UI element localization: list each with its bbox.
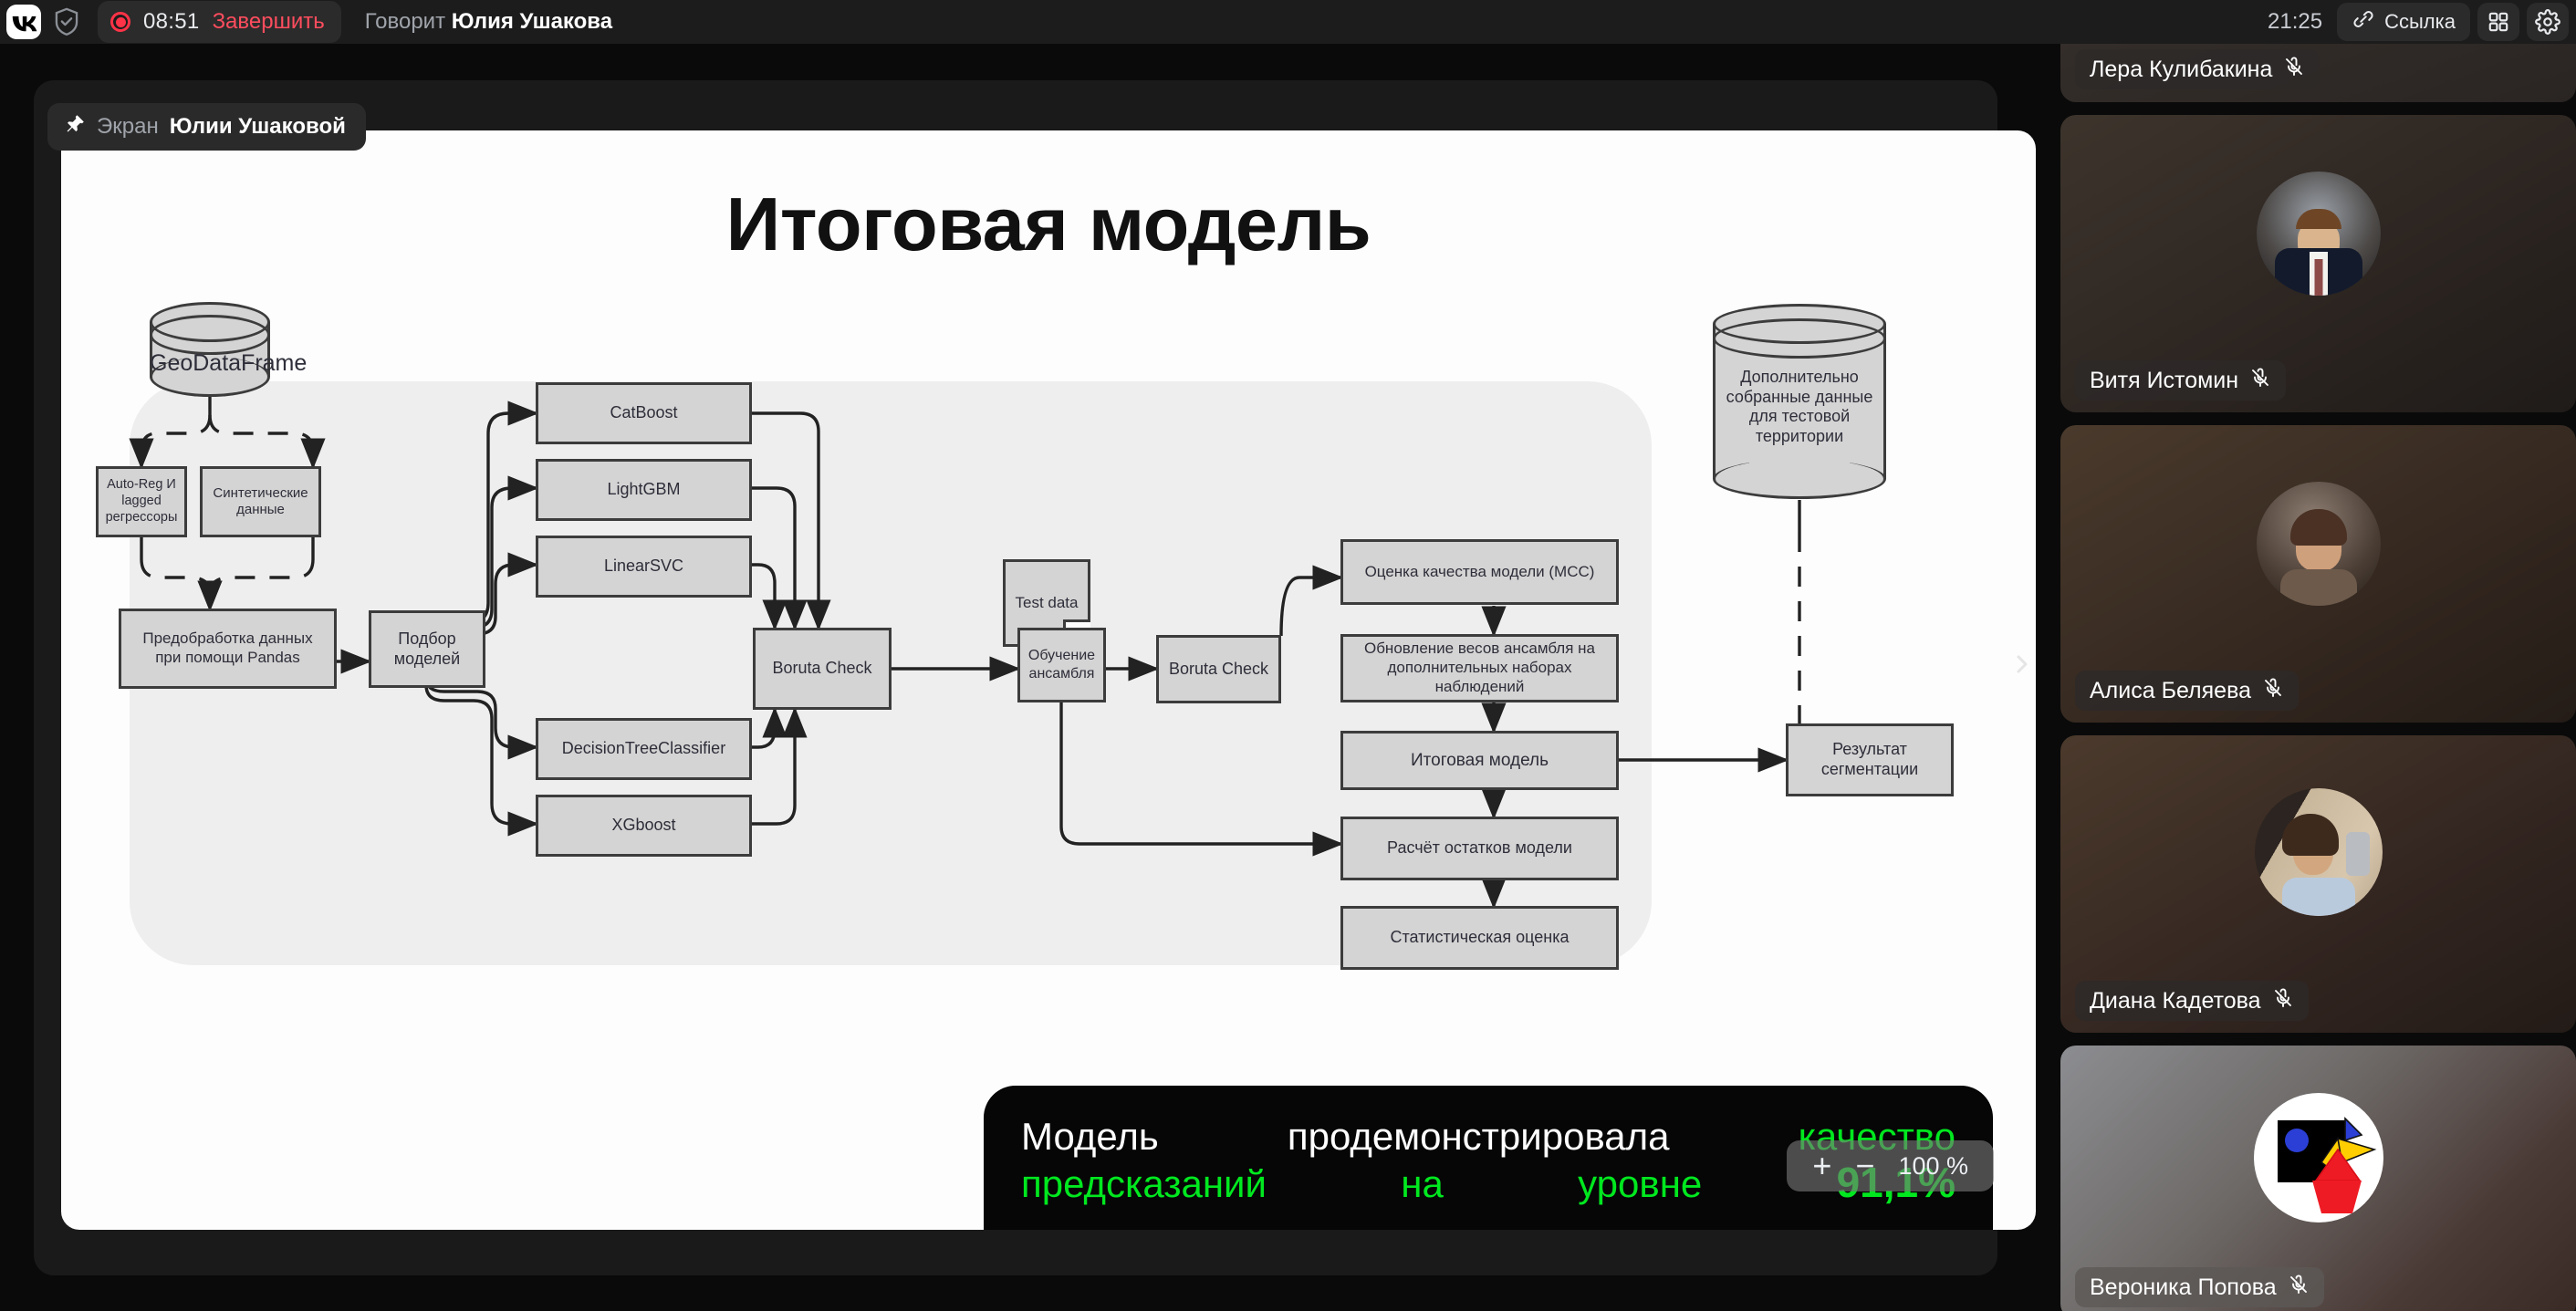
shared-screen-panel[interactable]: Итоговая модель bbox=[34, 80, 1997, 1275]
node-ensemble-training: Обучение ансамбля bbox=[1017, 628, 1106, 702]
zoom-out-button[interactable]: − bbox=[1855, 1150, 1874, 1182]
node-auto-reg-lagged: Auto-Reg И lagged регрессоры bbox=[96, 466, 187, 537]
recording-time: 08:51 bbox=[143, 9, 200, 35]
node-label: Подбор моделей bbox=[377, 629, 477, 670]
avatar bbox=[2254, 1093, 2383, 1223]
stop-recording-button[interactable]: Завершить bbox=[213, 9, 325, 35]
speaking-prefix: Говорит bbox=[365, 9, 445, 34]
recording-pill: 08:51 Завершить bbox=[98, 1, 341, 43]
mic-off-icon bbox=[2283, 56, 2305, 84]
node-residuals: Расчёт остатков модели bbox=[1340, 817, 1619, 880]
participant-name-chip: Витя Истомин bbox=[2075, 360, 2286, 401]
top-bar: 08:51 Завершить Говорит Юлия Ушакова 21:… bbox=[0, 0, 2576, 44]
pipeline-diagram: GeoDataFrame Auto-Reg И lagged регрессор… bbox=[61, 130, 2036, 1230]
node-label: GeoDataFrame bbox=[150, 349, 270, 377]
node-model-selection: Подбор моделей bbox=[369, 610, 485, 688]
pin-icon bbox=[64, 113, 86, 141]
link-icon bbox=[2352, 7, 2375, 36]
participant-tile[interactable]: Диана Кадетова bbox=[2060, 735, 2576, 1033]
node-label: Auto-Reg И lagged регрессоры bbox=[104, 477, 179, 525]
mic-off-icon bbox=[2249, 367, 2271, 395]
mic-off-icon bbox=[2288, 1274, 2310, 1302]
participant-name: Витя Истомин bbox=[2090, 368, 2238, 394]
chevron-right-icon[interactable] bbox=[2004, 637, 2040, 692]
callout-l1a: Модель bbox=[1021, 1115, 1159, 1158]
node-boruta-check-1: Boruta Check bbox=[753, 628, 892, 710]
node-linearsvc: LinearSVC bbox=[536, 536, 752, 598]
node-label: Test data bbox=[1016, 594, 1079, 612]
node-xgboost: XGboost bbox=[536, 795, 752, 857]
participant-name-chip: Лера Кулибакина bbox=[2075, 49, 2320, 89]
node-label: Итоговая модель bbox=[1411, 750, 1549, 771]
presentation-slide: Итоговая модель bbox=[61, 130, 2036, 1230]
node-label: DecisionTreeClassifier bbox=[562, 739, 725, 759]
record-dot-icon bbox=[110, 12, 130, 32]
shield-check-icon[interactable] bbox=[47, 2, 87, 42]
copy-link-button[interactable]: Ссылка bbox=[2337, 3, 2470, 41]
vk-logo-icon[interactable] bbox=[6, 5, 41, 39]
node-label: LinearSVC bbox=[604, 557, 683, 577]
mic-off-icon bbox=[2262, 677, 2284, 705]
node-quality-mcc: Оценка качества модели (MCC) bbox=[1340, 539, 1619, 605]
participant-tile[interactable]: Алиса Беляева bbox=[2060, 425, 2576, 723]
participants-rail[interactable]: Лера Кулибакина Витя Истомин bbox=[2048, 44, 2576, 1311]
node-boruta-check-2: Boruta Check bbox=[1156, 635, 1281, 703]
participant-name-chip: Алиса Беляева bbox=[2075, 671, 2299, 711]
participant-name: Алиса Беляева bbox=[2090, 678, 2251, 704]
node-statistical-evaluation: Статистическая оценка bbox=[1340, 906, 1619, 970]
avatar bbox=[2255, 788, 2383, 916]
grid-apps-icon[interactable] bbox=[2477, 3, 2519, 41]
participant-name-chip: Диана Кадетова bbox=[2075, 981, 2309, 1021]
active-speaker-label: Говорит Юлия Ушакова bbox=[365, 9, 612, 35]
node-geodataframe: GeoDataFrame bbox=[150, 302, 270, 397]
abstract-avatar-icon bbox=[2254, 1093, 2383, 1223]
node-label: Статистическая оценка bbox=[1390, 928, 1569, 948]
gear-icon[interactable] bbox=[2527, 3, 2569, 41]
node-label: Оценка качества модели (MCC) bbox=[1365, 563, 1595, 582]
participant-name: Диана Кадетова bbox=[2090, 988, 2261, 1014]
node-lightgbm: LightGBM bbox=[536, 459, 752, 521]
node-label: Обучение ансамбля bbox=[1025, 647, 1099, 682]
node-catboost: CatBoost bbox=[536, 382, 752, 444]
node-label: Результат сегментации bbox=[1794, 740, 1945, 780]
participant-name-chip: Вероника Попова bbox=[2075, 1267, 2324, 1307]
node-label: Дополнительно собранные данные для тесто… bbox=[1713, 368, 1886, 446]
video-call-window: 08:51 Завершить Говорит Юлия Ушакова 21:… bbox=[0, 0, 2576, 1311]
screen-share-pin-chip[interactable]: Экран Юлии Ушаковой bbox=[47, 103, 366, 151]
node-synthetic-data: Синтетические данные bbox=[200, 466, 321, 537]
avatar bbox=[2257, 482, 2381, 606]
node-label: Синтетические данные bbox=[208, 485, 313, 519]
pin-prefix: Экран bbox=[97, 114, 159, 140]
pin-owner-name: Юлии Ушаковой bbox=[170, 114, 346, 140]
zoom-in-button[interactable]: + bbox=[1812, 1150, 1831, 1182]
speaking-name: Юлия Ушакова bbox=[452, 9, 612, 34]
node-label: Boruta Check bbox=[772, 659, 871, 679]
participant-tile[interactable]: Вероника Попова bbox=[2060, 1046, 2576, 1311]
node-decisiontreeclassifier: DecisionTreeClassifier bbox=[536, 718, 752, 780]
node-label: Предобработка данных при помощи Pandas bbox=[129, 629, 327, 667]
node-preprocess-pandas: Предобработка данных при помощи Pandas bbox=[119, 609, 337, 689]
node-final-model: Итоговая модель bbox=[1340, 731, 1619, 790]
callout-l1b: продемонстрировала bbox=[1288, 1115, 1670, 1158]
participant-tile[interactable]: Витя Истомин bbox=[2060, 115, 2576, 412]
node-label: Обновление весов ансамбля на дополнитель… bbox=[1351, 640, 1609, 696]
participant-name: Вероника Попова bbox=[2090, 1275, 2277, 1301]
zoom-level: 100 % bbox=[1898, 1152, 1968, 1181]
node-label: CatBoost bbox=[610, 403, 677, 423]
top-bar-right-group: 21:25 Ссылка bbox=[2268, 0, 2576, 44]
node-label: Расчёт остатков модели bbox=[1387, 838, 1572, 858]
node-label: LightGBM bbox=[607, 480, 680, 500]
node-weights-update: Обновление весов ансамбля на дополнитель… bbox=[1340, 634, 1619, 702]
clock: 21:25 bbox=[2268, 9, 2322, 35]
node-label: XGboost bbox=[611, 816, 675, 836]
node-segmentation-result: Результат сегментации bbox=[1786, 723, 1954, 796]
node-label: Boruta Check bbox=[1169, 660, 1268, 680]
avatar bbox=[2257, 172, 2381, 296]
copy-link-label: Ссылка bbox=[2384, 10, 2456, 34]
mic-off-icon bbox=[2272, 987, 2294, 1015]
participant-name: Лера Кулибакина bbox=[2090, 57, 2272, 83]
zoom-control[interactable]: + − 100 % bbox=[1787, 1140, 1994, 1191]
node-extra-test-data: Дополнительно собранные данные для тесто… bbox=[1713, 304, 1886, 499]
callout-l2a: предсказаний на уровне bbox=[1021, 1162, 1702, 1205]
